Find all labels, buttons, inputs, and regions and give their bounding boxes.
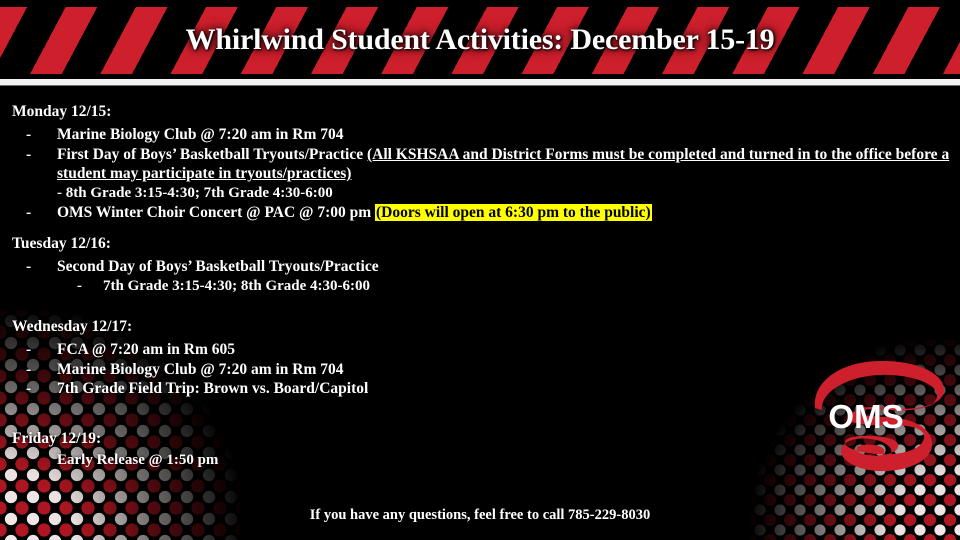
list-item: - FCA @ 7:20 am in Rm 605 [0,340,960,360]
dash-bullet: - [26,145,31,165]
dash-bullet: - [26,360,31,380]
list-item: - First Day of Boys’ Basketball Tryouts/… [0,145,960,184]
list-item-label: Marine Biology Club @ 7:20 am in Rm 704 [57,126,344,143]
list-item-label: FCA @ 7:20 am in Rm 605 [57,341,235,358]
day-heading: Friday 12/19: [0,430,960,448]
list-item: Early Release @ 1:50 pm [0,451,960,471]
day-heading: Wednesday 12/17: [0,318,960,336]
activities-flyer: Whirlwind Student Activities: December 1… [0,0,960,540]
highlighted-note: (Doors will open at 6:30 pm to the publi… [375,204,652,221]
day-block-friday: Friday 12/19: Early Release @ 1:50 pm [0,430,960,471]
schedule-body: Monday 12/15: - Marine Biology Club @ 7:… [0,85,960,540]
dash-bullet: - [26,379,31,399]
list-item: - OMS Winter Choir Concert @ PAC @ 7:00 … [0,203,960,223]
page-title: Whirlwind Student Activities: December 1… [0,0,960,79]
footer-contact-note: If you have any questions, feel free to … [0,507,960,524]
list-item-label: Second Day of Boys’ Basketball Tryouts/P… [57,258,379,275]
dash-bullet: - [26,257,31,277]
list-item-label: 7th Grade Field Trip: Brown vs. Board/Ca… [57,380,368,397]
day-heading: Monday 12/15: [0,103,960,121]
day-heading: Tuesday 12/16: [0,235,960,253]
list-item: - Second Day of Boys’ Basketball Tryouts… [0,257,960,277]
list-item-label: First Day of Boys’ Basketball Tryouts/Pr… [57,146,367,163]
list-subline: - 8th Grade 3:15-4:30; 7th Grade 4:30-6:… [0,184,960,204]
list-item-label: 7th Grade 3:15-4:30; 8th Grade 4:30-6:00 [103,278,370,294]
list-item: - 7th Grade Field Trip: Brown vs. Board/… [0,379,960,399]
day-block-monday: Monday 12/15: - Marine Biology Club @ 7:… [0,103,960,223]
list-item: - Marine Biology Club @ 7:20 am in Rm 70… [0,125,960,145]
day-block-tuesday: Tuesday 12/16: - Second Day of Boys’ Bas… [0,235,960,296]
dash-bullet: - [77,277,82,297]
list-item: - Marine Biology Club @ 7:20 am in Rm 70… [0,360,960,380]
list-item-label: OMS Winter Choir Concert @ PAC @ 7:00 pm [57,204,375,221]
dash-bullet: - [26,203,31,223]
day-block-wednesday: Wednesday 12/17: - FCA @ 7:20 am in Rm 6… [0,318,960,399]
dash-bullet: - [26,125,31,145]
list-item-label: Marine Biology Club @ 7:20 am in Rm 704 [57,361,344,378]
dash-bullet: - [26,340,31,360]
list-item: - 7th Grade 3:15-4:30; 8th Grade 4:30-6:… [0,277,960,297]
header-banner: Whirlwind Student Activities: December 1… [0,0,960,79]
